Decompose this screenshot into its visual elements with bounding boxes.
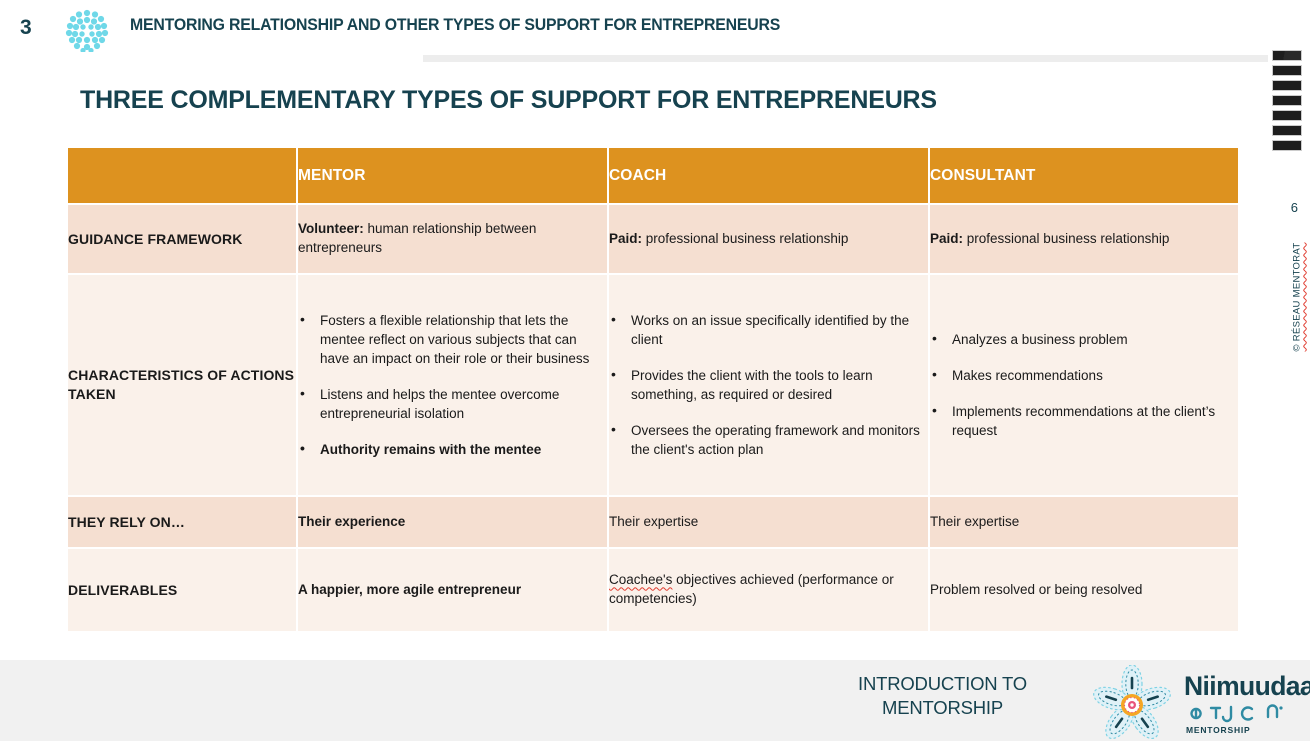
brand-tagline: MENTORSHIP bbox=[1186, 725, 1251, 735]
section-title: MENTORING RELATIONSHIP AND OTHER TYPES O… bbox=[130, 16, 780, 35]
copyright-vertical: © RÉSEAU MENTORAT bbox=[1288, 232, 1306, 362]
thumbnail-bar[interactable] bbox=[1272, 80, 1302, 91]
cell-guidance-coach: Paid: professional business relationship bbox=[608, 204, 929, 274]
list-item: Provides the client with the tools to le… bbox=[609, 366, 928, 404]
cell-strong: Paid: bbox=[930, 231, 963, 246]
thumbnail-bar[interactable] bbox=[1272, 110, 1302, 121]
thumbnail-bar[interactable] bbox=[1272, 95, 1302, 106]
cell-characteristics-consultant: Analyzes a business problem Makes recomm… bbox=[929, 274, 1238, 496]
footer-title: INTRODUCTION TO MENTORSHIP bbox=[770, 672, 1115, 721]
slide-thumbnail-stack[interactable] bbox=[1272, 50, 1302, 155]
slide-canvas: 3 MENTORING RELATIONSHIP AND OTHER TYPES… bbox=[0, 0, 1310, 741]
cell-text: professional business relationship bbox=[963, 231, 1169, 246]
header-rule bbox=[423, 55, 1268, 62]
five-petal-dotted-flower-logo-icon bbox=[1088, 665, 1176, 741]
table-row: THEY RELY ON… Their experience Their exp… bbox=[68, 496, 1238, 548]
cell-characteristics-coach: Works on an issue specifically identifie… bbox=[608, 274, 929, 496]
brand-name: Niimuudaan bbox=[1184, 673, 1310, 700]
list-item: Listens and helps the mentee overcome en… bbox=[298, 385, 607, 423]
cell-characteristics-mentor: Fosters a flexible relationship that let… bbox=[297, 274, 608, 496]
slide-footer: INTRODUCTION TO MENTORSHIP bbox=[0, 660, 1310, 741]
list-item: Makes recommendations bbox=[930, 366, 1238, 385]
list-item: Analyzes a business problem bbox=[930, 330, 1238, 349]
table-row: GUIDANCE FRAMEWORK Volunteer: human rela… bbox=[68, 204, 1238, 274]
thumbnail-bar[interactable] bbox=[1272, 125, 1302, 136]
cell-deliverables-consultant: Problem resolved or being resolved bbox=[929, 548, 1238, 632]
column-header-consultant: CONSULTANT bbox=[929, 148, 1238, 204]
thumbnail-bar[interactable] bbox=[1272, 50, 1302, 61]
cell-text: professional business relationship bbox=[642, 231, 848, 246]
table-row: DELIVERABLES A happier, more agile entre… bbox=[68, 548, 1238, 632]
page-title: THREE COMPLEMENTARY TYPES OF SUPPORT FOR… bbox=[80, 86, 937, 115]
bullet-list-coach: Works on an issue specifically identifie… bbox=[609, 311, 928, 460]
cell-rely-mentor: Their experience bbox=[297, 496, 608, 548]
column-header-blank bbox=[68, 148, 297, 204]
section-number: 3 bbox=[20, 16, 32, 40]
cell-deliverables-mentor: A happier, more agile entrepreneur bbox=[297, 548, 608, 632]
column-header-mentor: MENTOR bbox=[297, 148, 608, 204]
cell-rely-coach: Their expertise bbox=[608, 496, 929, 548]
thumbnail-bar[interactable] bbox=[1272, 65, 1302, 76]
bullet-list-consultant: Analyzes a business problem Makes recomm… bbox=[930, 330, 1238, 441]
column-header-coach: COACH bbox=[608, 148, 929, 204]
cell-strong: Volunteer: bbox=[298, 221, 364, 236]
list-item: Works on an issue specifically identifie… bbox=[609, 311, 928, 349]
cell-guidance-consultant: Paid: professional business relationship bbox=[929, 204, 1238, 274]
brand-lockup: Niimuudaan MENTORSHIP bbox=[1088, 663, 1303, 741]
radial-dot-flower-logo-icon bbox=[62, 8, 112, 52]
footer-title-line2: MENTORSHIP bbox=[882, 697, 1003, 718]
inuktitut-syllabics-wordmark-icon bbox=[1186, 703, 1296, 723]
list-item: Oversees the operating framework and mon… bbox=[609, 421, 928, 459]
copyright-text: © RÉSEAU MENTORAT bbox=[1292, 243, 1303, 352]
table-header-row: MENTOR COACH CONSULTANT bbox=[68, 148, 1238, 204]
bullet-list-mentor: Fosters a flexible relationship that let… bbox=[298, 311, 607, 460]
row-label-they-rely-on: THEY RELY ON… bbox=[68, 496, 297, 548]
table-row: CHARACTERISTICS OF ACTIONS TAKEN Fosters… bbox=[68, 274, 1238, 496]
misspelled-word: Coachee's bbox=[609, 572, 672, 587]
cell-deliverables-coach: Coachee's objectives achieved (performan… bbox=[608, 548, 929, 632]
list-item: Fosters a flexible relationship that let… bbox=[298, 311, 607, 368]
footer-title-line1: INTRODUCTION TO bbox=[858, 673, 1027, 694]
cell-strong: Paid: bbox=[609, 231, 642, 246]
row-label-characteristics: CHARACTERISTICS OF ACTIONS TAKEN bbox=[68, 274, 297, 496]
page-number: 6 bbox=[1291, 200, 1298, 215]
thumbnail-bar[interactable] bbox=[1272, 140, 1302, 151]
list-item: Authority remains with the mentee bbox=[298, 440, 607, 459]
list-item: Implements recommendations at the client… bbox=[930, 402, 1238, 440]
cell-text: Their experience bbox=[298, 514, 405, 529]
row-label-guidance-framework: GUIDANCE FRAMEWORK bbox=[68, 204, 297, 274]
cell-guidance-mentor: Volunteer: human relationship between en… bbox=[297, 204, 608, 274]
cell-text: A happier, more agile entrepreneur bbox=[298, 582, 521, 597]
support-types-table: MENTOR COACH CONSULTANT GUIDANCE FRAMEWO… bbox=[68, 148, 1238, 633]
row-label-deliverables: DELIVERABLES bbox=[68, 548, 297, 632]
cell-rely-consultant: Their expertise bbox=[929, 496, 1238, 548]
